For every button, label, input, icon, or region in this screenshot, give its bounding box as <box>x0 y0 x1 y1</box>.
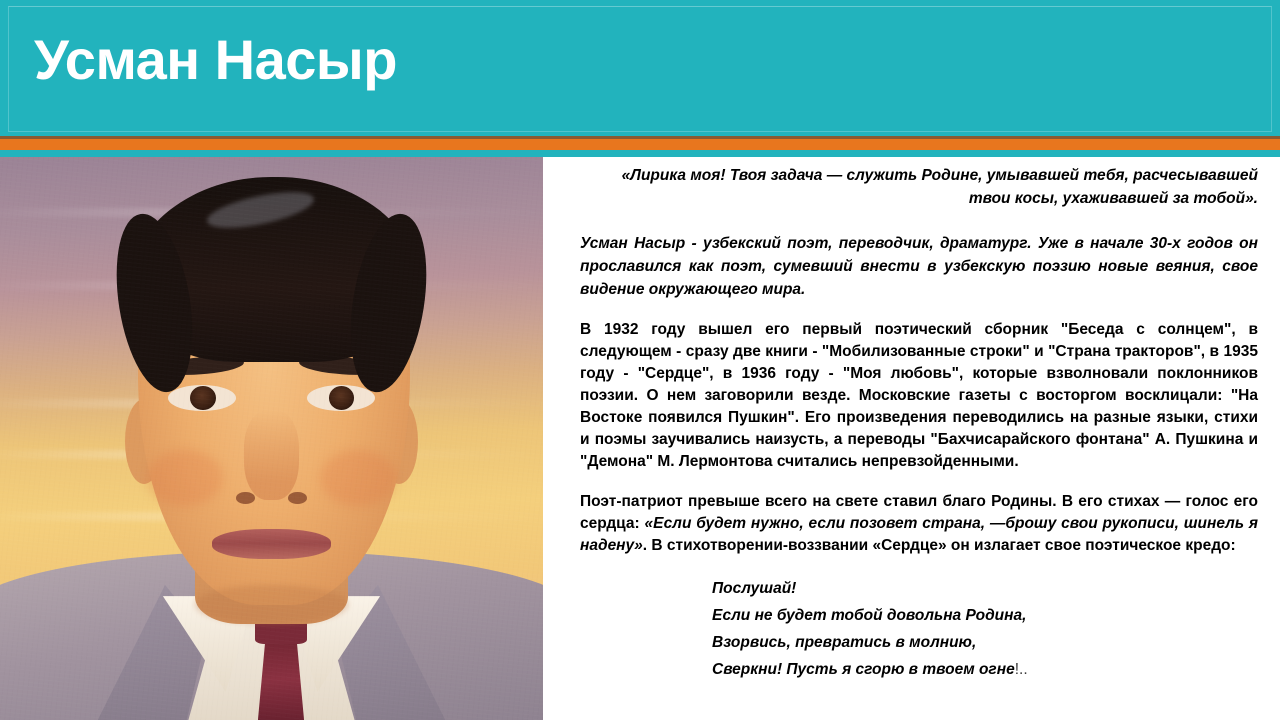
paragraph-patriot-tail: . В стихотворении-воззвании «Сердце» он … <box>643 537 1236 554</box>
portrait-nose <box>244 410 298 500</box>
poem-line: Взорвись, превратись в молнию, <box>712 629 1258 656</box>
portrait-iris-left <box>190 386 216 410</box>
text-column: «Лирика моя! Твоя задача — служить Родин… <box>580 164 1258 683</box>
paragraph-works: В 1932 году вышел его первый поэтический… <box>580 319 1258 473</box>
portrait-iris-right <box>329 386 355 410</box>
portrait-eye-right <box>307 385 375 411</box>
portrait-nostril-left <box>236 492 254 504</box>
slide-header: Усман Насыр <box>0 0 1280 136</box>
portrait-image <box>0 157 543 720</box>
paragraph-intro: Усман Насыр - узбекский поэт, переводчик… <box>580 232 1258 301</box>
poem-ellipsis: !.. <box>1015 661 1028 678</box>
poem-line-last: Сверкни! Пусть я сгорю в твоем огне!.. <box>712 656 1258 683</box>
poem-line: Послушай! <box>712 575 1258 602</box>
poem-line: Если не будет тобой довольна Родина, <box>712 602 1258 629</box>
divider-accent-stripe <box>0 139 1280 150</box>
portrait-cheek-right <box>320 450 396 506</box>
page-title: Усман Насыр <box>34 28 397 92</box>
portrait-eye-left <box>168 385 236 411</box>
epigraph-quote: «Лирика моя! Твоя задача — служить Родин… <box>580 164 1258 210</box>
divider-teal-stripe <box>0 150 1280 157</box>
paragraph-patriot: Поэт-патриот превыше всего на свете став… <box>580 491 1258 557</box>
poem-line-text: Сверкни! Пусть я сгорю в твоем огне <box>712 661 1015 678</box>
poem-block: Послушай! Если не будет тобой довольна Р… <box>712 575 1258 683</box>
portrait-cheek-left <box>147 450 223 506</box>
slide: Усман Насыр <box>0 0 1280 720</box>
portrait-chin-shadow <box>195 585 347 624</box>
portrait-nostril-right <box>288 492 306 504</box>
portrait-canvas <box>0 157 543 720</box>
portrait-lips <box>212 529 331 559</box>
